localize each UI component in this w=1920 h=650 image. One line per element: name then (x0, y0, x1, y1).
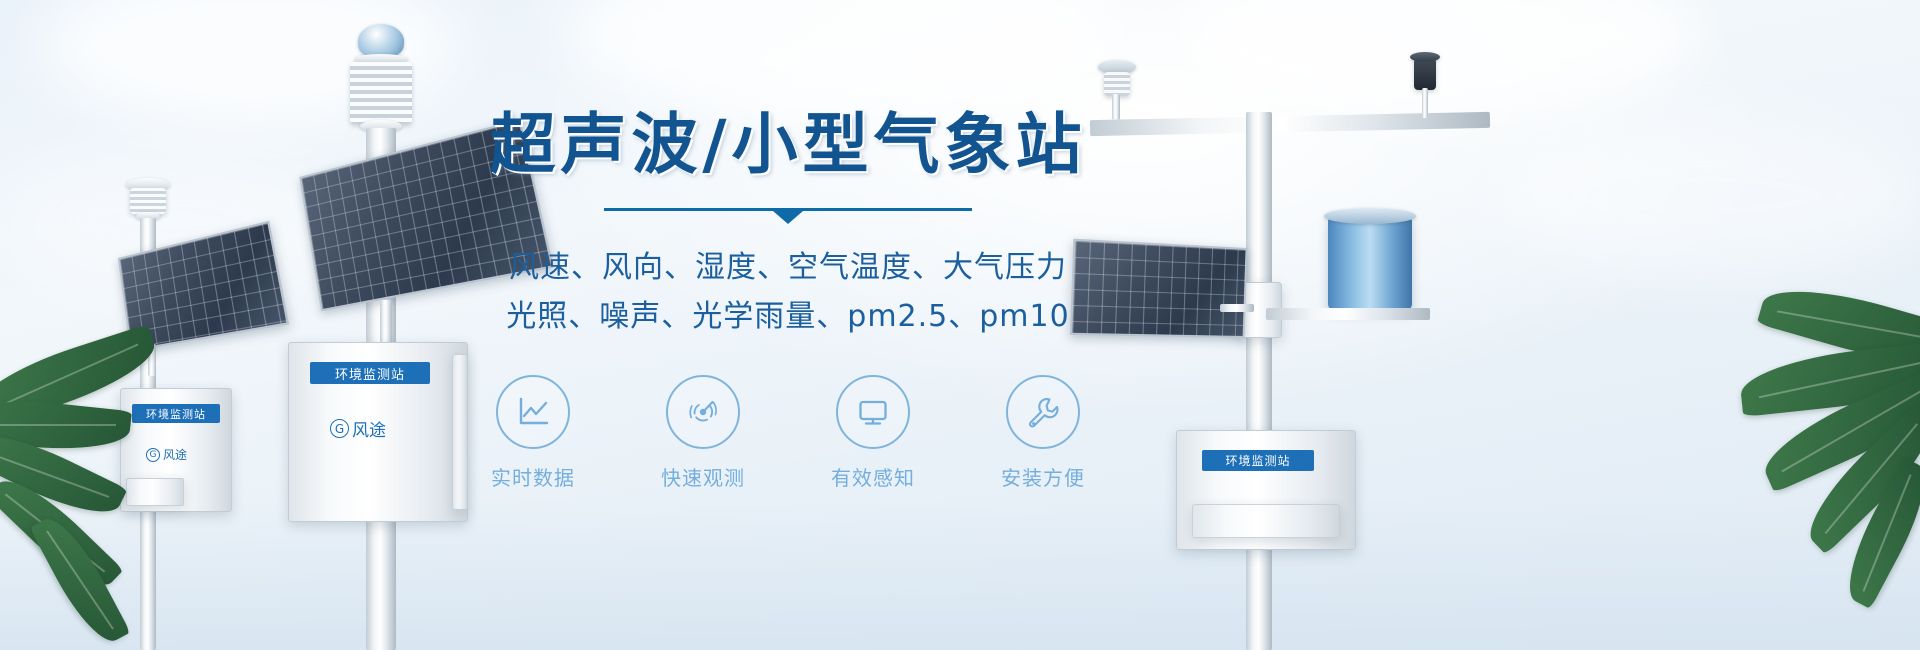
equipment-shelf (1266, 308, 1430, 320)
radar-scan-icon (683, 392, 723, 432)
optical-rain-sensor-icon (1414, 58, 1436, 90)
crossarm (1090, 112, 1490, 136)
brand-name: 风途 (352, 416, 386, 441)
sensor-dome-icon (358, 24, 404, 58)
rain-collector-barrel (1328, 214, 1412, 310)
radiation-shield-icon (350, 62, 412, 124)
rain-collector-rim (1324, 208, 1416, 224)
monitor-icon (853, 392, 893, 432)
rain-sensor-stem (1422, 88, 1428, 118)
brand-logo: G 风途 (330, 416, 386, 441)
page-title: 超声波/小型气象站 (428, 108, 1148, 182)
cabinet-label-badge: 环境监测站 (132, 404, 220, 423)
cloud-decoration (560, 0, 1120, 120)
product-banner: 环境监测站 G 风途 环境监测站 G 风途 (0, 0, 1920, 650)
cloud-decoration (1500, 120, 1920, 270)
rain-sensor-cap-icon (1410, 52, 1440, 62)
banner-content: 超声波/小型气象站 风速、风向、湿度、空气温度、大气压力 光照、噪声、光学雨量、… (428, 108, 1148, 491)
feature-item-fast-observation[interactable]: 快速观测 (641, 375, 765, 491)
wrench-icon (1023, 392, 1063, 432)
panel-mount-bracket (1220, 304, 1254, 312)
brand-mark-icon: G (146, 448, 160, 462)
feature-item-effective-sensing[interactable]: 有效感知 (811, 375, 935, 491)
feature-list: 实时数据 快速观测 (428, 375, 1148, 491)
cabinet-label-badge: 环境监测站 (1202, 450, 1314, 471)
brand-name: 风途 (163, 446, 187, 463)
subtitle-line-2: 光照、噪声、光学雨量、pm2.5、pm10 (428, 293, 1148, 342)
feature-icon-circle (666, 375, 740, 449)
feature-icon-circle (1006, 375, 1080, 449)
cabinet-vent (1192, 504, 1340, 538)
chevron-down-icon (773, 211, 803, 224)
feature-label: 快速观测 (641, 462, 765, 491)
mast-pole (1246, 112, 1272, 650)
ultrasonic-sensor-body (1104, 72, 1130, 96)
line-chart-icon (513, 392, 553, 432)
subtitle-line-1: 风速、风向、湿度、空气温度、大气压力 (428, 244, 1148, 293)
title-divider (604, 208, 972, 230)
feature-label: 实时数据 (471, 462, 595, 491)
feature-item-realtime-data[interactable]: 实时数据 (471, 375, 595, 491)
brand-mark-icon: G (330, 419, 349, 438)
feature-icon-circle (496, 375, 570, 449)
feature-label: 安装方便 (981, 462, 1105, 491)
radiation-shield-icon (130, 188, 166, 214)
cabinet-lower-panel (126, 478, 184, 506)
feature-item-easy-install[interactable]: 安装方便 (981, 375, 1105, 491)
feature-icon-circle (836, 375, 910, 449)
cabinet-label-badge: 环境监测站 (310, 362, 430, 384)
panel-mount-bracket (380, 300, 392, 344)
feature-label: 有效感知 (811, 462, 935, 491)
brand-logo: G 风途 (146, 446, 187, 463)
